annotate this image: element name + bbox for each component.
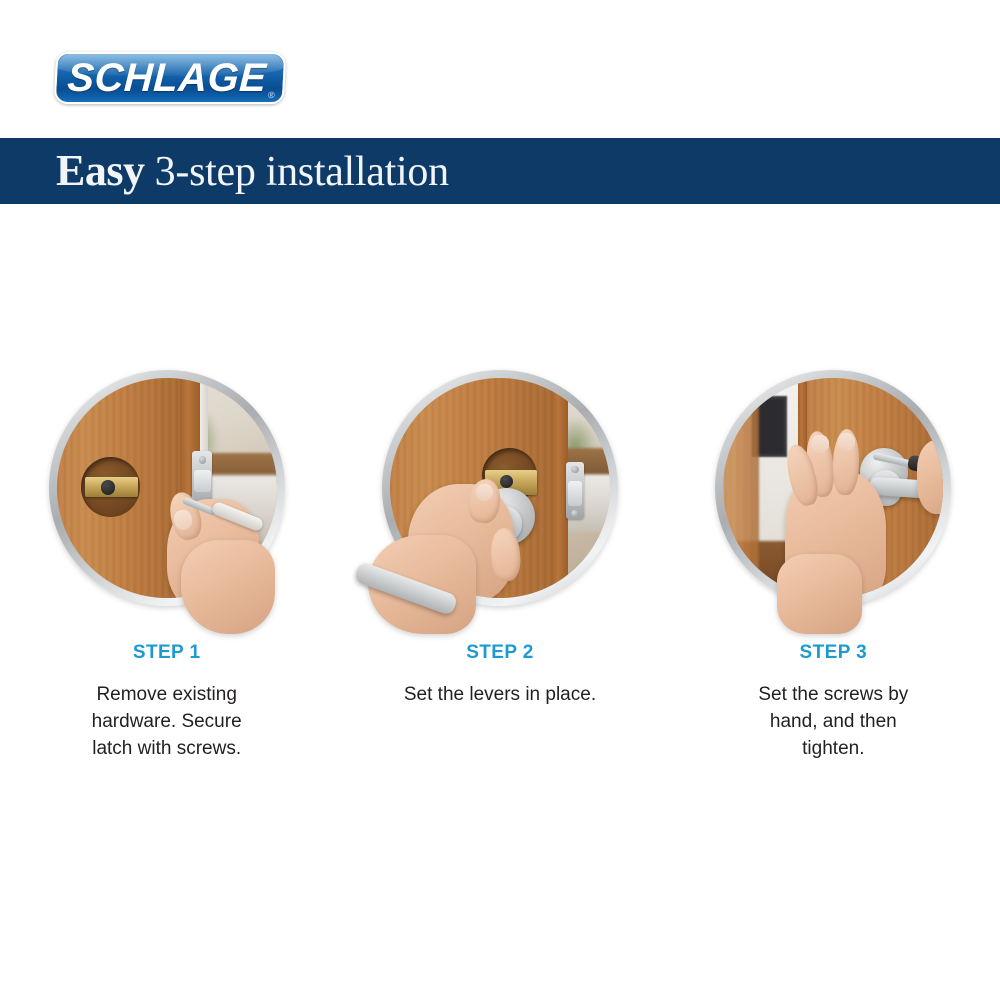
step-1-description: Remove existing hardware. Secure latch w… xyxy=(0,682,333,763)
step-2-photo xyxy=(382,370,618,606)
step-2-description: Set the levers in place. xyxy=(333,682,666,709)
fingernail-index xyxy=(811,435,829,453)
headline-rest: 3-step installation xyxy=(144,149,448,195)
step-2-label: STEP 2 xyxy=(333,642,666,664)
step-1-label: STEP 1 xyxy=(0,642,333,664)
steps-row: STEP 1 Remove existing hardware. Secure … xyxy=(0,360,1000,763)
hand-gripping-screwdriver xyxy=(917,440,943,515)
step-card-3: STEP 3 Set the screws by hand, and then … xyxy=(667,360,1000,763)
strike-screw-top-icon xyxy=(571,466,578,473)
hand-overflow xyxy=(181,540,275,634)
strike-screw-bottom-icon xyxy=(571,510,578,517)
headline-banner: Easy 3-step installation xyxy=(0,138,1000,204)
headline-text: Easy 3-step installation xyxy=(0,149,449,193)
strike-screw-top-icon xyxy=(199,456,206,463)
step-3-description: Set the screws by hand, and then tighten… xyxy=(667,682,1000,763)
step-3-photo xyxy=(715,370,951,606)
fingernail-middle xyxy=(838,433,856,451)
step-3-label: STEP 3 xyxy=(667,642,1000,664)
logo-wordmark: SCHLAGE xyxy=(54,52,287,104)
hand-overflow xyxy=(777,554,862,634)
background-door-leaf xyxy=(723,378,758,598)
headline-bold-word: Easy xyxy=(56,146,144,195)
latch-bolt xyxy=(194,470,211,492)
step-2-caption: STEP 2 Set the levers in place. xyxy=(333,642,666,709)
registered-trademark-icon: ® xyxy=(268,90,275,100)
step-1-photo xyxy=(49,370,285,606)
latch-spindle-hole xyxy=(500,475,513,488)
schlage-logo: SCHLAGE ® xyxy=(55,52,285,104)
page-root: SCHLAGE ® Easy 3-step installation xyxy=(0,0,1000,1000)
step-card-1: STEP 1 Remove existing hardware. Secure … xyxy=(0,360,333,763)
step-1-caption: STEP 1 Remove existing hardware. Secure … xyxy=(0,642,333,763)
latch-spindle-hole xyxy=(101,480,115,494)
step-3-caption: STEP 3 Set the screws by hand, and then … xyxy=(667,642,1000,763)
step-card-2: STEP 2 Set the levers in place. xyxy=(333,360,666,763)
latch-bolt xyxy=(568,481,582,505)
